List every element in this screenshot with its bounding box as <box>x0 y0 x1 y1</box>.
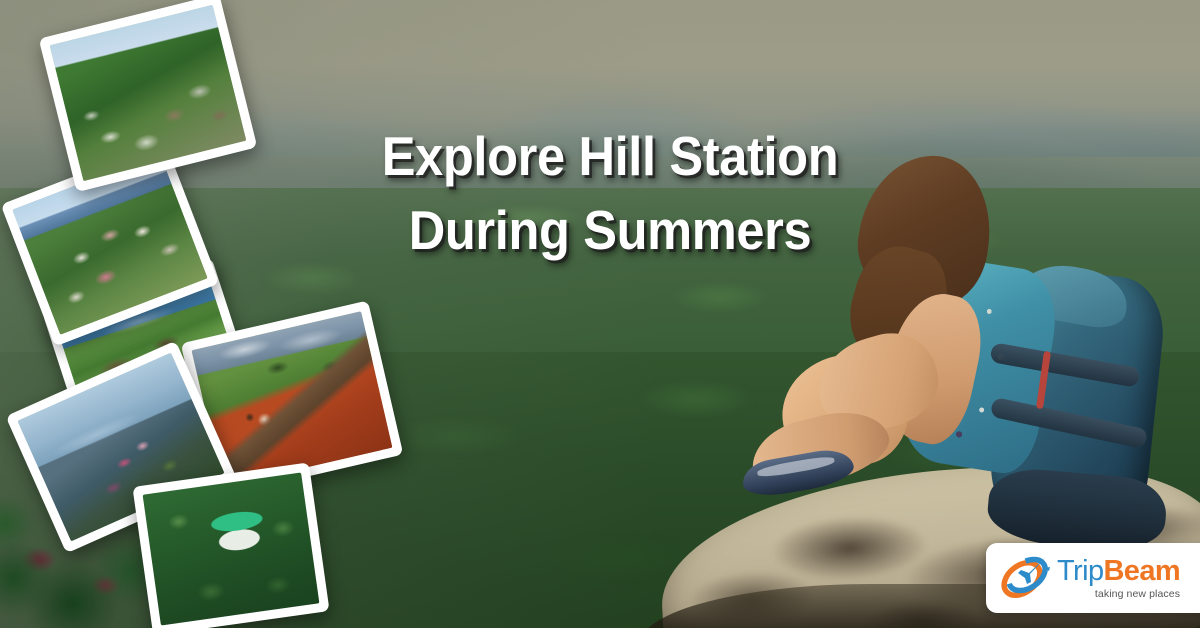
tripbeam-logo[interactable]: TripBeam taking new places <box>986 543 1200 613</box>
logo-word-beam: Beam <box>1103 555 1180 587</box>
logo-word-trip: Trip <box>1057 555 1103 587</box>
logo-wordmark: TripBeam <box>1057 557 1180 586</box>
logo-text-block: TripBeam taking new places <box>1057 557 1180 600</box>
collage-photo-6 <box>132 462 329 628</box>
collage-photo-1 <box>39 0 258 192</box>
globe-swoosh-airplane-icon <box>996 553 1054 603</box>
travel-banner: Explore Hill Station During Summers Trip… <box>0 0 1200 628</box>
collage-photo-6-image <box>143 473 320 626</box>
headline-line-1: Explore Hill Station <box>352 126 867 188</box>
headline-line-2: During Summers <box>352 200 867 262</box>
logo-tagline: taking new places <box>1057 589 1180 600</box>
photo-collage <box>0 0 400 628</box>
headline-block: Explore Hill Station During Summers <box>330 126 890 261</box>
collage-photo-1-image <box>50 5 247 181</box>
